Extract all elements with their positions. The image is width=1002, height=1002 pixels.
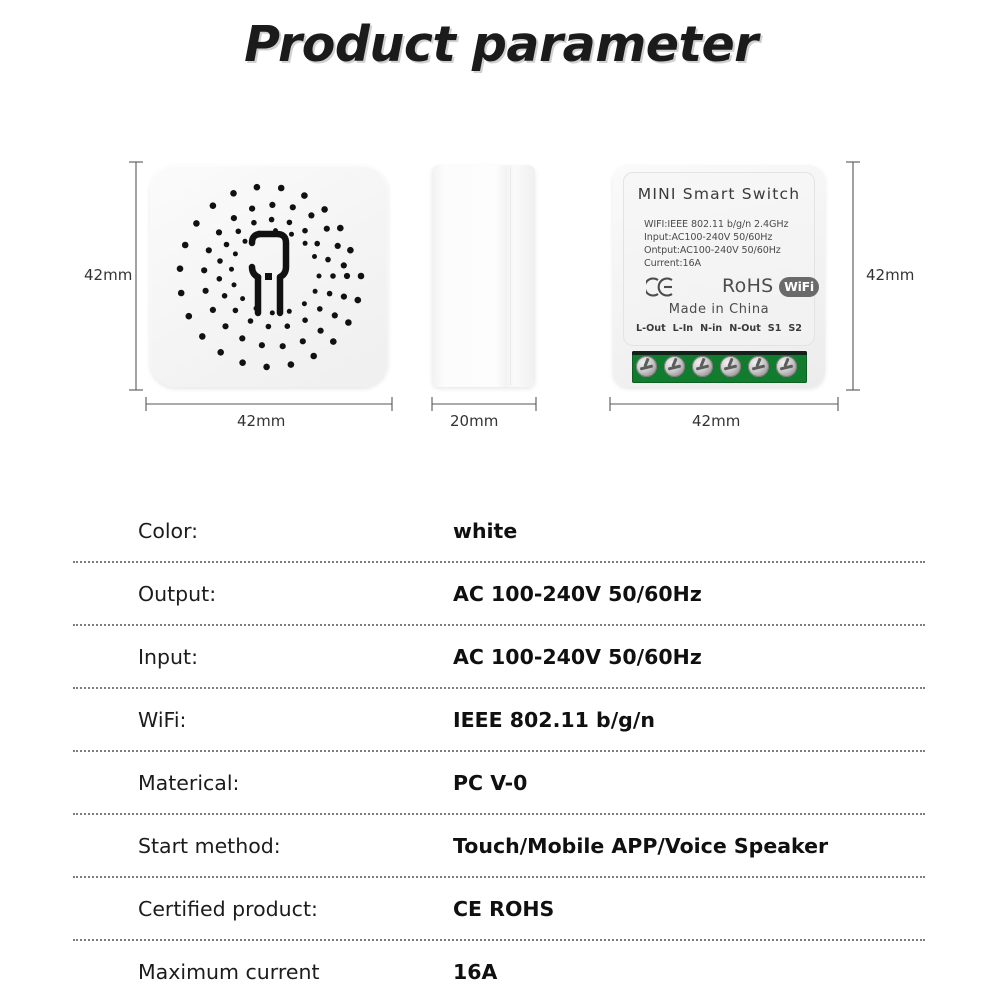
front-width-dimension-line — [142, 396, 396, 412]
back-height-dimension-line — [845, 158, 861, 394]
device-spec-wifi: WIFI:IEEE 802.11 b/g/n 2.4GHz — [644, 219, 788, 230]
terminal-label-l-in: L-In — [673, 323, 694, 334]
row-label: Input: — [73, 645, 453, 669]
row-value: IEEE 802.11 b/g/n — [453, 708, 655, 732]
back-width-dimension-label: 42mm — [692, 412, 740, 430]
table-row: Certified product: CE ROHS — [73, 876, 925, 939]
table-row: Input: AC 100-240V 50/60Hz — [73, 624, 925, 687]
terminal-screw — [692, 356, 713, 377]
terminal-screw — [664, 356, 685, 377]
front-height-dimension-label: 42mm — [84, 266, 132, 284]
terminal-label-s2: S2 — [788, 323, 802, 334]
terminal-label-l-out: L-Out — [636, 323, 666, 334]
row-value: white — [453, 519, 517, 543]
ce-mark-icon — [646, 277, 676, 297]
terminal-top-strip — [632, 351, 807, 355]
row-label: Certified product: — [73, 897, 453, 921]
row-value: AC 100-240V 50/60Hz — [453, 645, 702, 669]
device-label-panel: MINI Smart Switch WIFI:IEEE 802.11 b/g/n… — [623, 172, 815, 346]
front-width-dimension-label: 42mm — [237, 412, 285, 430]
wifi-badge-icon: WiFi — [779, 277, 819, 297]
row-label: Color: — [73, 519, 453, 543]
row-value: AC 100-240V 50/60Hz — [453, 582, 702, 606]
terminal-screw — [776, 356, 797, 377]
plug-switch-icon — [243, 225, 295, 325]
terminal-screw — [720, 356, 741, 377]
terminal-screw — [748, 356, 769, 377]
row-value: Touch/Mobile APP/Voice Speaker — [453, 834, 828, 858]
device-spec-output: Ontput:AC100-240V 50/60Hz — [644, 245, 781, 256]
terminal-label-n-in: N-in — [700, 323, 722, 334]
rohs-mark-text: RoHS — [722, 275, 774, 297]
back-width-dimension-line — [606, 396, 842, 412]
device-model-text: MINI Smart Switch — [624, 185, 814, 203]
row-label: Maximum current — [73, 960, 453, 984]
table-row: Color: white — [73, 500, 925, 561]
specification-table: Color: white Output: AC 100-240V 50/60Hz… — [73, 500, 925, 1002]
made-in-text: Made in China — [624, 302, 814, 317]
row-value: 16A — [453, 960, 497, 984]
terminal-label-n-out: N-Out — [729, 323, 761, 334]
side-width-dimension-line — [428, 396, 540, 412]
side-seam-line — [510, 167, 511, 385]
product-back-face: MINI Smart Switch WIFI:IEEE 802.11 b/g/n… — [613, 165, 825, 387]
row-value: PC V-0 — [453, 771, 527, 795]
row-label: Output: — [73, 582, 453, 606]
side-width-dimension-label: 20mm — [450, 412, 498, 430]
table-row: Output: AC 100-240V 50/60Hz — [73, 561, 925, 624]
row-label: Start method: — [73, 834, 453, 858]
terminal-label-s1: S1 — [768, 323, 782, 334]
back-height-dimension-label: 42mm — [866, 266, 914, 284]
device-spec-current: Current:16A — [644, 258, 701, 269]
table-row: Materical: PC V-0 — [73, 750, 925, 813]
table-row: Start method: Touch/Mobile APP/Voice Spe… — [73, 813, 925, 876]
product-side-view — [432, 165, 535, 387]
table-row: Maximum current 16A — [73, 939, 925, 1002]
product-illustrations: 42mm — [0, 140, 1002, 450]
terminal-screw — [636, 356, 657, 377]
row-value: CE ROHS — [453, 897, 554, 921]
row-label: Materical: — [73, 771, 453, 795]
terminal-block — [632, 351, 807, 383]
product-front-face — [150, 165, 388, 387]
table-row: WiFi: IEEE 802.11 b/g/n — [73, 687, 925, 750]
page-title: Product parameter — [0, 16, 1002, 73]
terminal-labels: L-Out L-In N-in N-Out S1 S2 — [636, 323, 802, 334]
device-spec-input: Input:AC100-240V 50/60Hz — [644, 232, 772, 243]
row-label: WiFi: — [73, 708, 453, 732]
